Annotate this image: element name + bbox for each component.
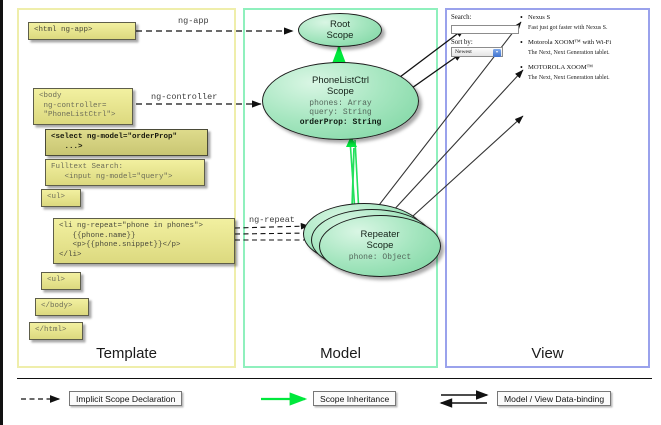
scope-repeater-title-1: Repeater bbox=[360, 229, 399, 240]
panel-template-label: Template bbox=[19, 345, 234, 362]
scope-root-title-1: Root bbox=[330, 19, 350, 30]
scope-phonelistctrl-prop-1: query: String bbox=[309, 108, 371, 117]
view-sort-selected-value: Newest bbox=[455, 49, 472, 55]
scope-root: Root Scope bbox=[298, 13, 382, 47]
phone-name: Motorola XOOM™ with Wi-Fi bbox=[519, 39, 641, 46]
edge-label-ng-controller: ng-controller bbox=[151, 92, 217, 102]
phone-snippet: The Next, Next Generation tablet. bbox=[519, 75, 641, 81]
scope-phonelistctrl-title-1: PhoneListCtrl bbox=[312, 75, 369, 86]
code-ul-close: <ul> bbox=[41, 272, 81, 290]
legend: Implicit Scope Declaration Scope Inherit… bbox=[17, 388, 652, 414]
list-item[interactable]: Nexus S Fast just got faster with Nexus … bbox=[519, 14, 641, 31]
edge-label-ng-app: ng-app bbox=[178, 16, 209, 26]
panel-view-label: View bbox=[447, 345, 648, 362]
view-search-input[interactable] bbox=[451, 25, 519, 34]
list-item[interactable]: MOTOROLA XOOM™ The Next, Next Generation… bbox=[519, 64, 641, 81]
list-item[interactable]: Motorola XOOM™ with Wi-Fi The Next, Next… bbox=[519, 39, 641, 56]
phone-name: MOTOROLA XOOM™ bbox=[519, 64, 641, 71]
phone-snippet: Fast just got faster with Nexus S. bbox=[519, 25, 641, 31]
code-html-close: </html> bbox=[29, 322, 83, 340]
code-select-block: <select ng-model="orderProp" ...> bbox=[45, 129, 208, 156]
scope-root-title-2: Scope bbox=[327, 30, 354, 41]
phone-name: Nexus S bbox=[519, 14, 641, 21]
scope-phonelistctrl-prop-0: phones: Array bbox=[309, 99, 371, 108]
edge-label-ng-repeat: ng-repeat bbox=[249, 215, 295, 225]
scope-phonelistctrl: PhoneListCtrl Scope phones: Array query:… bbox=[262, 62, 419, 140]
legend-label-declaration: Implicit Scope Declaration bbox=[69, 391, 182, 406]
scope-repeater: Repeater Scope phone: Object bbox=[319, 215, 441, 277]
code-ul-open: <ul> bbox=[41, 189, 81, 207]
code-body-close: </body> bbox=[35, 298, 89, 316]
chevron-down-icon bbox=[493, 49, 501, 57]
legend-label-databinding: Model / View Data-binding bbox=[497, 391, 611, 406]
diagram-canvas: Template Model View bbox=[0, 0, 661, 425]
code-html-open: <html ng-app> bbox=[28, 22, 136, 40]
panel-model-label: Model bbox=[245, 345, 436, 362]
phone-snippet: The Next, Next Generation tablet. bbox=[519, 50, 641, 56]
code-li-repeat: <li ng-repeat="phone in phones"> {{phone… bbox=[53, 218, 235, 264]
scope-repeater-prop-0: phone: Object bbox=[349, 253, 411, 262]
view-sort-select[interactable]: Newest bbox=[451, 47, 503, 57]
legend-divider bbox=[17, 378, 652, 379]
view-phone-list: Nexus S Fast just got faster with Nexus … bbox=[519, 14, 641, 89]
code-search-block: Fulltext Search: <input ng-model="query"… bbox=[45, 159, 205, 186]
scope-phonelistctrl-title-2: Scope bbox=[327, 86, 354, 97]
code-body-open: <body ng-controller= "PhoneListCtrl"> bbox=[33, 88, 133, 125]
scope-phonelistctrl-prop-highlight: orderProp: String bbox=[300, 118, 382, 127]
scope-repeater-title-2: Scope bbox=[367, 240, 394, 251]
view-app-mock: Search: Sort by: Newest Nexus S Fast jus… bbox=[451, 14, 644, 344]
legend-label-inheritance: Scope Inheritance bbox=[313, 391, 396, 406]
